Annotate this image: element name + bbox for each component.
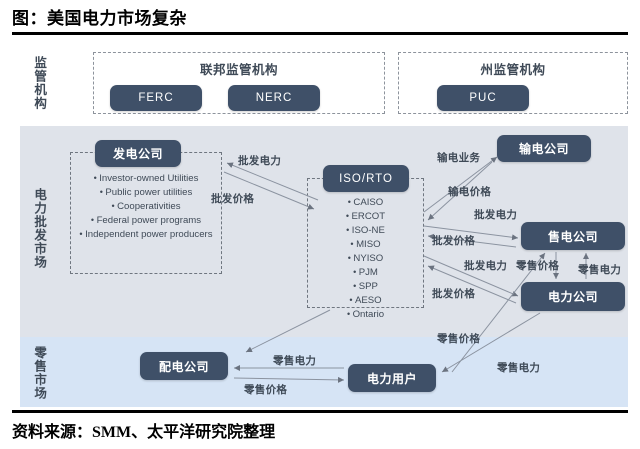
node-generation-company[interactable]: 发电公司 (95, 140, 181, 167)
node-puc[interactable]: PUC (437, 85, 529, 111)
flow-label-retail-price-distrib: 零售价格 (244, 382, 287, 397)
node-ferc[interactable]: FERC (110, 85, 202, 111)
flow-label-retail-power-distrib: 零售电力 (273, 353, 316, 368)
flow-label-retail-price-retailer: 零售价格 (516, 258, 559, 273)
flow-label-retail-power-user: 零售电力 (497, 360, 540, 375)
node-retailer-company[interactable]: 售电公司 (521, 222, 625, 250)
node-iso-rto[interactable]: ISO/RTO (323, 165, 409, 192)
flow-label-transmission-price: 输电价格 (448, 184, 491, 199)
flow-label-wholesale-price-retailer: 批发价格 (432, 233, 475, 248)
flow-label-wholesale-power-retailer: 批发电力 (474, 207, 517, 222)
flow-label-wholesale-power-powerco: 批发电力 (464, 258, 507, 273)
node-distribution-company[interactable]: 配电公司 (140, 352, 228, 380)
node-nerc[interactable]: NERC (228, 85, 320, 111)
node-power-company[interactable]: 电力公司 (521, 282, 625, 311)
flow-label-retail-price-user: 零售价格 (437, 331, 480, 346)
flow-label-wholesale-price-gen: 批发价格 (211, 191, 254, 206)
flow-label-wholesale-power-gen: 批发电力 (238, 153, 281, 168)
node-consumer[interactable]: 电力用户 (348, 364, 436, 392)
node-transmission-company[interactable]: 输电公司 (497, 135, 591, 162)
flow-label-transmission-service: 输电业务 (437, 150, 480, 165)
flow-label-wholesale-price-powerco: 批发价格 (432, 286, 475, 301)
flow-label-retail-power-retailer: 零售电力 (578, 262, 621, 277)
